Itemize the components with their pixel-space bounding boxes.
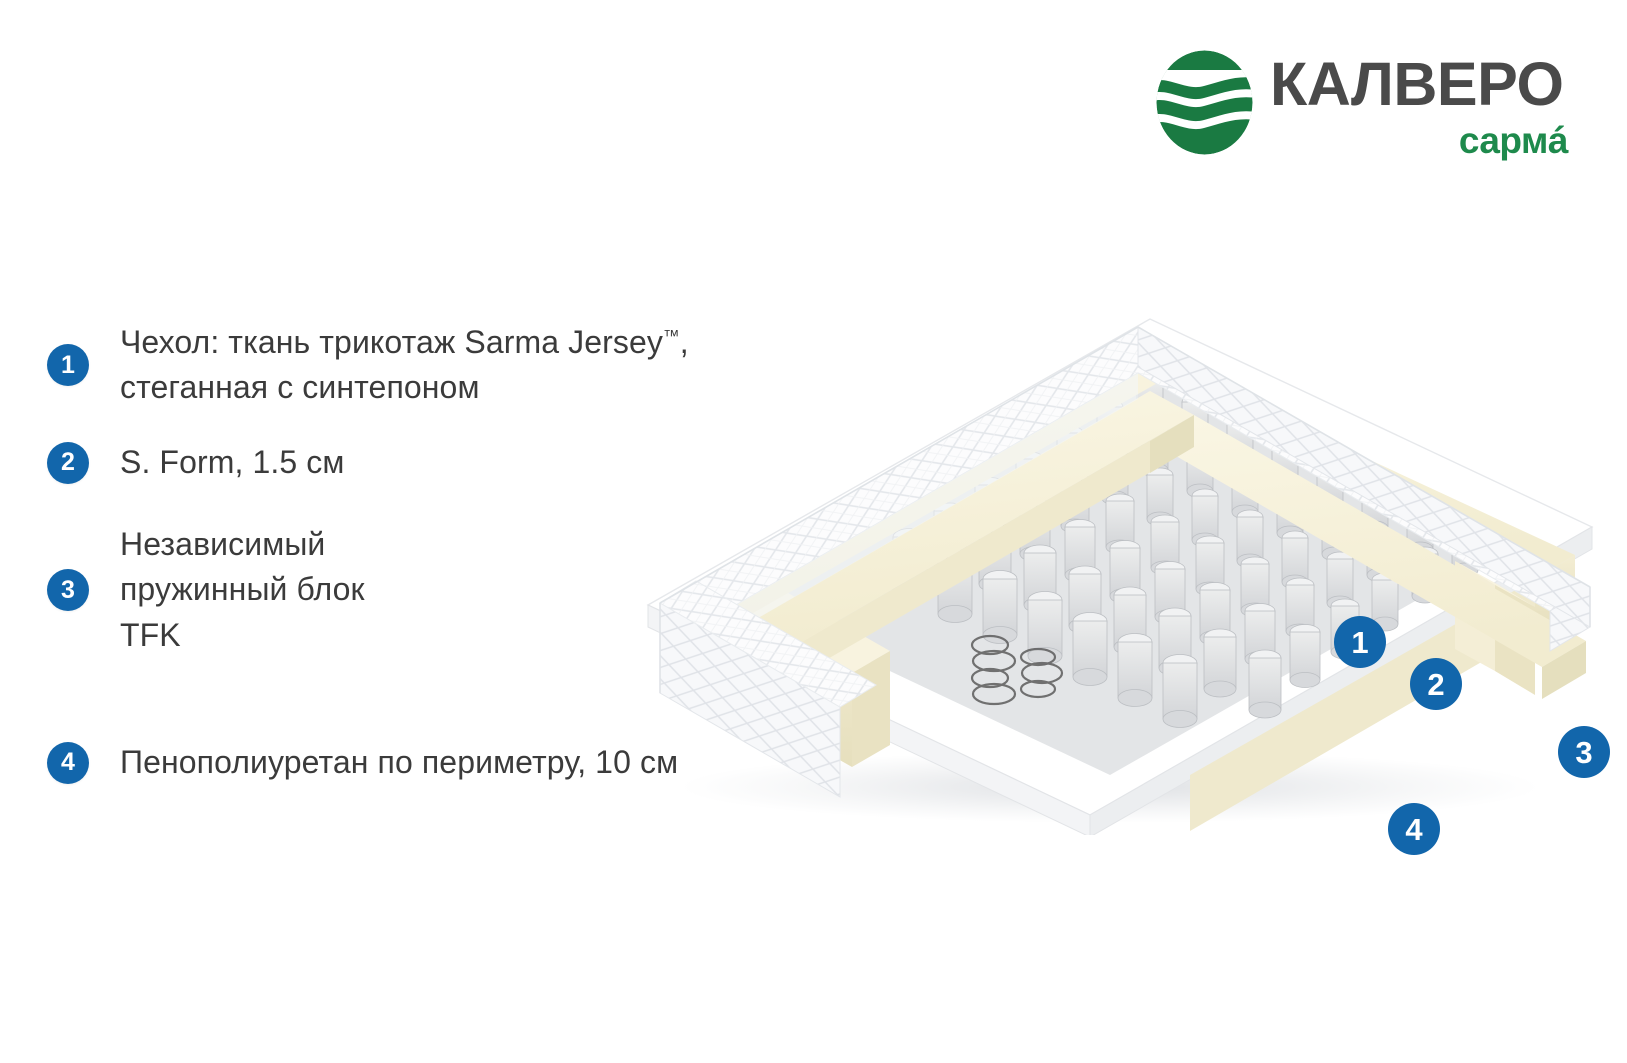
- illustration-marker-1: 1: [1334, 616, 1386, 668]
- legend-label-3: Независимый пружинный блок TFK: [120, 522, 365, 658]
- illustration-marker-3: 3: [1558, 726, 1610, 778]
- illustration-marker-4: 4: [1388, 803, 1440, 855]
- brand-name: КАЛВЕРО: [1270, 54, 1563, 115]
- brand-wordmark: КАЛВЕРО сармá: [1270, 54, 1570, 170]
- legend-item-2: 2 S. Form, 1.5 см: [47, 440, 344, 485]
- legend-item-3: 3 Независимый пружинный блок TFK: [47, 522, 365, 658]
- green-sphere-waves-icon: [1152, 50, 1257, 155]
- illustration-marker-2: 2: [1410, 658, 1462, 710]
- legend-badge-1: 1: [47, 344, 89, 386]
- legend-label-1-pre: Чехол: ткань трикотаж Sarma Jersey: [120, 324, 663, 360]
- legend-badge-3: 3: [47, 569, 89, 611]
- mattress-cutaway-illustration: 1 2 3 4: [590, 175, 1600, 835]
- legend-label-2: S. Form, 1.5 см: [120, 440, 344, 485]
- brand-logo: КАЛВЕРО сармá: [1152, 48, 1572, 173]
- legend-item-4: 4 Пенополиуретан по периметру, 10 см: [47, 740, 678, 785]
- legend-badge-2: 2: [47, 442, 89, 484]
- legend-badge-4: 4: [47, 742, 89, 784]
- page-root: КАЛВЕРО сармá 1 Чехол: ткань трикотаж Sa…: [0, 0, 1627, 1063]
- brand-sub-name: сармá: [1459, 122, 1568, 159]
